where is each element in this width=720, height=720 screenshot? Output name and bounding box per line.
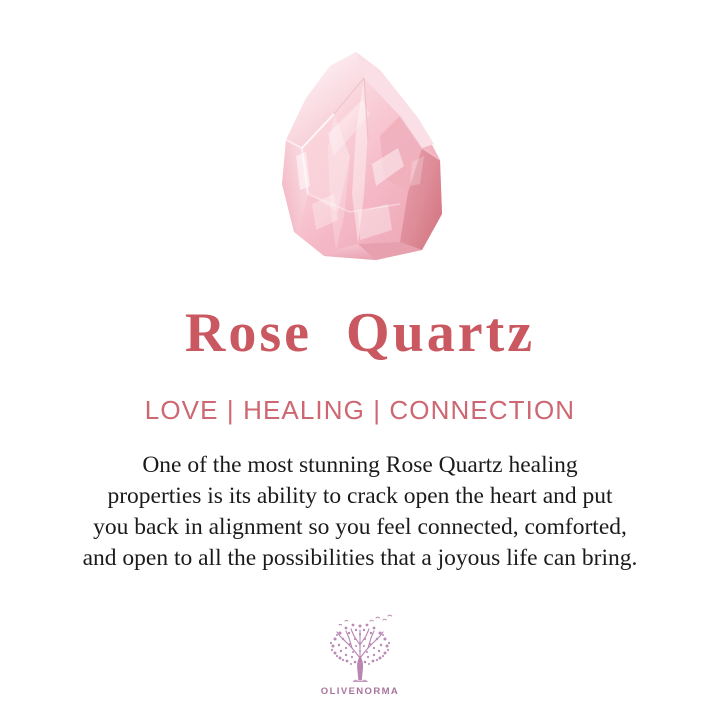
brand-wordmark: OLIVENORMA [321,686,399,697]
description-line: One of the most stunning Rose Quartz hea… [26,450,694,481]
description-line: you back in alignment so you feel connec… [26,512,694,543]
description-paragraph: One of the most stunning Rose Quartz hea… [26,450,694,574]
tree-of-life-icon [312,612,408,684]
page-title: Rose Quartz [0,303,720,363]
brand-logo: OLIVENORMA [0,612,720,697]
keyword-subtitle: LOVE | HEALING | CONNECTION [0,396,720,425]
rose-quartz-info-card: Rose Quartz LOVE | HEALING | CONNECTION … [0,0,720,720]
crystal-image [272,44,456,266]
description-line: and open to all the possibilities that a… [26,543,694,574]
rose-quartz-crystal-icon [272,44,456,266]
description-line: properties is its ability to crack open … [26,481,694,512]
